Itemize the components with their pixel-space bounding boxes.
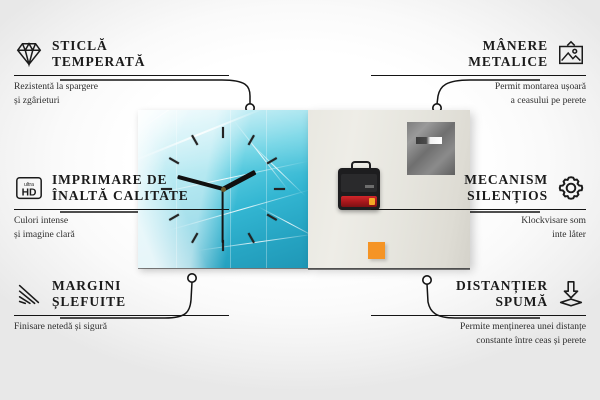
callout-mecanism-silentios: MECANISM SILENȚIOS Klockvisare som inte … [371,172,586,241]
callout-desc-line1: Rezistentă la spargere [14,80,229,93]
ultra-hd-icon: ultra HD [14,173,44,203]
callout-title-line2: ȘLEFUITE [52,294,126,310]
callout-desc-line2: inte låter [371,228,586,241]
orange-foam-spacer [368,242,385,259]
callout-title-line2: SPUMĂ [456,294,548,310]
callout-divider [371,209,586,211]
callout-sticla-temperata: STICLĂ TEMPERATĂ Rezistentă la spargere … [14,38,229,107]
callout-desc-line2: și zgârieturi [14,94,229,107]
callout-desc-line2: a ceasului pe perete [371,94,586,107]
gear-icon [556,173,586,203]
callout-desc-line1: Permit montarea ușoară [371,80,586,93]
callout-imprimare-inalta-calitate: ultra HD IMPRIMARE DE ÎNALTĂ CALITATE Cu… [14,172,229,241]
callout-divider [14,209,229,211]
callout-desc-line1: Permite menținerea unei distanțe [371,320,586,333]
callout-title-line1: IMPRIMARE DE [52,172,189,188]
metal-hanger-plate [407,122,455,175]
picture-hanger-icon [556,39,586,69]
callout-divider [371,315,586,317]
ultra-hd-large-text: HD [22,187,37,198]
callout-distantier-spuma: DISTANȚIER SPUMĂ Permite menținerea unei… [371,278,586,347]
callout-desc-line2: constante între ceas și perete [371,334,586,347]
callout-title-line1: MECANISM [464,172,548,188]
callout-desc-line1: Finisare netedă și sigură [14,320,229,333]
callout-title-line1: MARGINI [52,278,126,294]
infographic-canvas: STICLĂ TEMPERATĂ Rezistentă la spargere … [0,0,600,400]
callout-title-line2: TEMPERATĂ [52,54,145,70]
callout-divider [14,315,229,317]
callout-title-line2: ÎNALTĂ CALITATE [52,188,189,204]
foam-spacer-icon [556,279,586,309]
callout-desc-line2: și imagine clară [14,228,229,241]
callout-title-line1: MÂNERE [468,38,548,54]
callout-title-line1: STICLĂ [52,38,145,54]
callout-manere-metalice: MÂNERE METALICE Permit montarea ușoară a… [371,38,586,107]
callout-margini-slefuite: MARGINI ȘLEFUITE Finisare netedă și sigu… [14,278,229,334]
callout-desc-line1: Klockvisare som [371,214,586,227]
polished-edges-icon [14,279,44,309]
callout-title-line2: METALICE [468,54,548,70]
callout-divider [371,75,586,77]
callout-desc-line1: Culori intense [14,214,229,227]
diamond-icon [14,39,44,69]
callout-title-line2: SILENȚIOS [464,188,548,204]
callout-divider [14,75,229,77]
callout-title-line1: DISTANȚIER [456,278,548,294]
